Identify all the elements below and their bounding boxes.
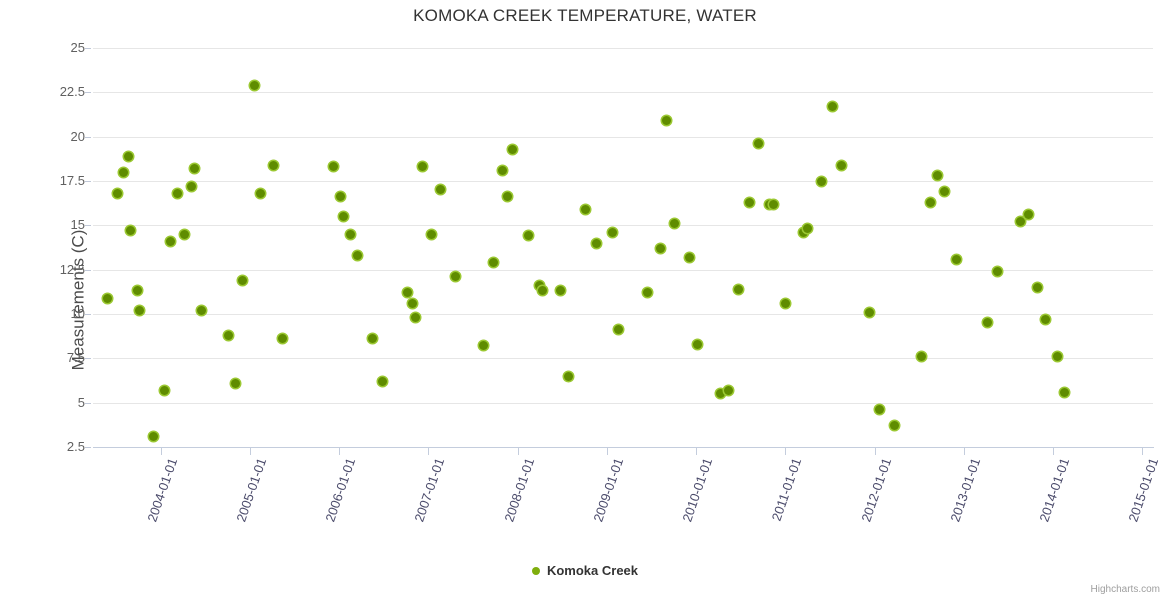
data-point[interactable] <box>256 189 265 198</box>
x-axis-tick-label: 2014-01-01 <box>1036 456 1072 524</box>
data-point[interactable] <box>917 352 926 361</box>
data-point[interactable] <box>479 341 488 350</box>
x-axis-tick-mark <box>250 448 251 455</box>
plot-area <box>93 48 1153 447</box>
data-point[interactable] <box>135 306 144 315</box>
x-axis-tick-mark <box>1142 448 1143 455</box>
y-axis-tick-label: 22.5 <box>33 84 85 99</box>
x-axis-tick-label: 2010-01-01 <box>680 456 716 524</box>
data-point[interactable] <box>489 258 498 267</box>
credits-link[interactable]: Highcharts.com <box>1091 584 1160 595</box>
gridline <box>93 314 1153 315</box>
data-point[interactable] <box>103 294 112 303</box>
x-axis-tick-label: 2007-01-01 <box>412 456 448 524</box>
x-axis-tick-mark <box>1053 448 1054 455</box>
data-point[interactable] <box>592 239 601 248</box>
data-point[interactable] <box>803 224 812 233</box>
data-point[interactable] <box>837 161 846 170</box>
x-axis-tick-label: 2013-01-01 <box>947 456 983 524</box>
data-point[interactable] <box>926 198 935 207</box>
data-point[interactable] <box>250 81 259 90</box>
data-point[interactable] <box>231 379 240 388</box>
y-axis-tick-mark <box>85 270 91 271</box>
x-axis-tick-label: 2009-01-01 <box>590 456 626 524</box>
data-point[interactable] <box>238 276 247 285</box>
data-point[interactable] <box>339 212 348 221</box>
y-axis-tick-label: 2.5 <box>33 439 85 454</box>
y-axis-tick-mark <box>85 48 91 49</box>
data-point[interactable] <box>368 334 377 343</box>
gridline <box>93 137 1153 138</box>
x-axis-tick-mark <box>875 448 876 455</box>
data-point[interactable] <box>1060 388 1069 397</box>
x-axis-tick-label: 2011-01-01 <box>769 456 805 523</box>
y-axis-tick-mark <box>85 358 91 359</box>
y-axis-tick-label: 20 <box>33 129 85 144</box>
y-axis-tick-mark <box>85 225 91 226</box>
y-axis-tick-mark <box>85 137 91 138</box>
data-point[interactable] <box>498 166 507 175</box>
x-axis-tick-label: 2005-01-01 <box>233 456 269 524</box>
data-point[interactable] <box>1041 315 1050 324</box>
x-axis-tick-label: 2015-01-01 <box>1126 456 1162 524</box>
data-point[interactable] <box>378 377 387 386</box>
x-axis-tick-mark <box>428 448 429 455</box>
data-point[interactable] <box>278 334 287 343</box>
data-point[interactable] <box>418 162 427 171</box>
y-axis-tick-labels: 2522.52017.51512.5107.552.5 <box>25 48 85 447</box>
data-point[interactable] <box>180 230 189 239</box>
data-point[interactable] <box>769 200 778 209</box>
data-point[interactable] <box>524 231 533 240</box>
data-point[interactable] <box>353 251 362 260</box>
x-axis-tick-label: 2008-01-01 <box>501 456 537 524</box>
gridline <box>93 403 1153 404</box>
data-point[interactable] <box>933 171 942 180</box>
data-point[interactable] <box>119 168 128 177</box>
data-point[interactable] <box>875 405 884 414</box>
x-axis-line <box>93 447 1154 448</box>
data-point[interactable] <box>983 318 992 327</box>
data-point[interactable] <box>329 162 338 171</box>
data-point[interactable] <box>745 198 754 207</box>
y-axis-tick-label: 25 <box>33 40 85 55</box>
data-point[interactable] <box>614 325 623 334</box>
data-point[interactable] <box>564 372 573 381</box>
data-point[interactable] <box>411 313 420 322</box>
data-point[interactable] <box>693 340 702 349</box>
y-axis-tick-mark <box>85 92 91 93</box>
gridline <box>93 48 1153 49</box>
data-point[interactable] <box>133 286 142 295</box>
y-axis-tick-label: 7.5 <box>33 350 85 365</box>
gridline <box>93 92 1153 93</box>
x-axis-tick-mark <box>785 448 786 455</box>
x-axis-tick-mark <box>518 448 519 455</box>
data-point[interactable] <box>670 219 679 228</box>
data-point[interactable] <box>940 187 949 196</box>
y-axis-tick-label: 10 <box>33 306 85 321</box>
data-point[interactable] <box>173 189 182 198</box>
y-axis-tick-label: 5 <box>33 395 85 410</box>
data-point[interactable] <box>113 189 122 198</box>
data-point[interactable] <box>734 285 743 294</box>
x-axis-tick-mark <box>696 448 697 455</box>
data-point[interactable] <box>190 164 199 173</box>
data-point[interactable] <box>346 230 355 239</box>
data-point[interactable] <box>993 267 1002 276</box>
legend-marker-icon <box>532 567 540 575</box>
x-axis-tick-mark <box>964 448 965 455</box>
data-point[interactable] <box>126 226 135 235</box>
data-point[interactable] <box>336 192 345 201</box>
data-point[interactable] <box>662 116 671 125</box>
chart-container: KOMOKA CREEK TEMPERATURE, WATER Measurem… <box>0 0 1170 600</box>
data-point[interactable] <box>149 432 158 441</box>
data-point[interactable] <box>436 185 445 194</box>
data-point[interactable] <box>160 386 169 395</box>
chart-legend: Komoka Creek <box>0 562 1170 578</box>
data-point[interactable] <box>508 145 517 154</box>
data-point[interactable] <box>890 421 899 430</box>
data-point[interactable] <box>1016 217 1025 226</box>
data-point[interactable] <box>1024 210 1033 219</box>
data-point[interactable] <box>685 253 694 262</box>
data-point[interactable] <box>556 286 565 295</box>
y-axis-tick-mark <box>85 447 91 448</box>
data-point[interactable] <box>656 244 665 253</box>
legend-item-komoka-creek[interactable]: Komoka Creek <box>532 562 638 578</box>
data-point[interactable] <box>581 205 590 214</box>
data-point[interactable] <box>403 288 412 297</box>
data-point[interactable] <box>451 272 460 281</box>
data-point[interactable] <box>124 152 133 161</box>
data-point[interactable] <box>817 177 826 186</box>
x-axis-tick-mark <box>607 448 608 455</box>
data-point[interactable] <box>643 288 652 297</box>
x-axis-tick-label: 2004-01-01 <box>144 456 180 524</box>
data-point[interactable] <box>408 299 417 308</box>
gridline <box>93 181 1153 182</box>
legend-item-label: Komoka Creek <box>547 563 638 578</box>
chart-title: KOMOKA CREEK TEMPERATURE, WATER <box>0 6 1170 26</box>
y-axis-tick-mark <box>85 314 91 315</box>
y-axis-tick-label: 17.5 <box>33 173 85 188</box>
data-point[interactable] <box>608 228 617 237</box>
data-point[interactable] <box>269 161 278 170</box>
data-point[interactable] <box>865 308 874 317</box>
x-axis-tick-label: 2006-01-01 <box>323 456 359 524</box>
gridline <box>93 358 1153 359</box>
data-point[interactable] <box>828 102 837 111</box>
data-point[interactable] <box>781 299 790 308</box>
x-axis-tick-label: 2012-01-01 <box>858 456 894 524</box>
data-point[interactable] <box>427 230 436 239</box>
y-axis-tick-label: 12.5 <box>33 262 85 277</box>
y-axis-tick-mark <box>85 181 91 182</box>
data-point[interactable] <box>1053 352 1062 361</box>
x-axis-tick-mark <box>161 448 162 455</box>
y-axis-tick-mark <box>85 403 91 404</box>
data-point[interactable] <box>187 182 196 191</box>
data-point[interactable] <box>952 255 961 264</box>
data-point[interactable] <box>754 139 763 148</box>
data-point[interactable] <box>503 192 512 201</box>
gridline <box>93 225 1153 226</box>
data-point[interactable] <box>538 286 547 295</box>
data-point[interactable] <box>724 386 733 395</box>
y-axis-tick-label: 15 <box>33 217 85 232</box>
data-point[interactable] <box>224 331 233 340</box>
data-point[interactable] <box>1033 283 1042 292</box>
data-point[interactable] <box>166 237 175 246</box>
x-axis-tick-mark <box>339 448 340 455</box>
